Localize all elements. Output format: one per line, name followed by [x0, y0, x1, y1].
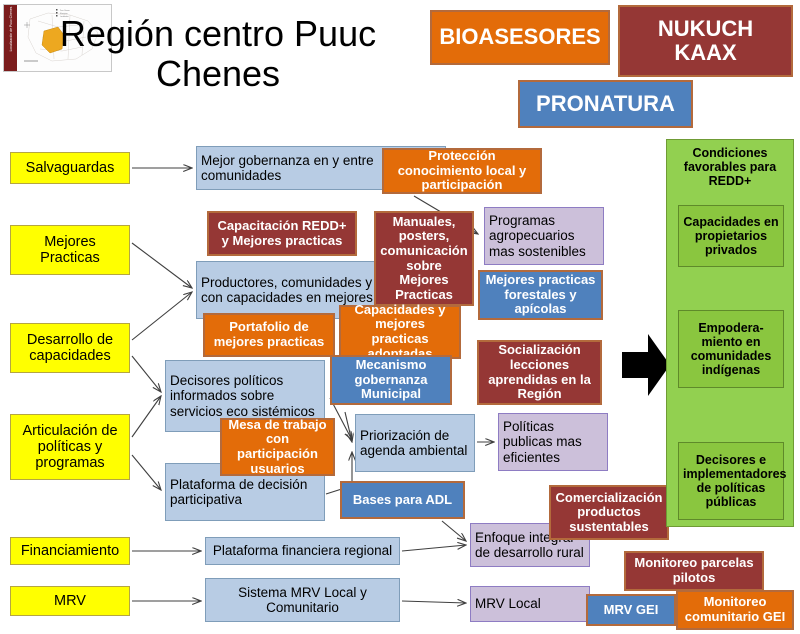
activity-box-label: Capacitación REDD+ y Mejores practicas	[213, 219, 351, 248]
activity-box-label: Mecanismo gobernanza Municipal	[336, 358, 446, 402]
activity-box-label: Mejores practicas forestales y apícolas	[484, 273, 597, 317]
outcome-box-label: Decisores políticos informados sobre ser…	[170, 373, 320, 418]
activity-box-label: Manuales, posters, comunicación sobre Me…	[380, 215, 468, 302]
driver-box-label: Financiamiento	[15, 543, 125, 559]
impact-item-2[interactable]: Decisores e implementadores de políticas…	[678, 442, 784, 520]
outcome-box-label: MRV Local	[475, 596, 585, 611]
driver-box-mejores[interactable]: Mejores Practicas	[10, 225, 130, 275]
activity-box-socializacion-lecciones[interactable]: Socialización lecciones aprendidas en la…	[477, 340, 602, 405]
driver-box-articulacin[interactable]: Articulación de políticas y programas	[10, 414, 130, 480]
activity-box-mrv-gei[interactable]: MRV GEI	[586, 594, 676, 626]
outcome-box-label: Priorización de agenda ambiental	[360, 428, 470, 458]
impact-item-1[interactable]: Empodera-miento en comunidades indígenas	[678, 310, 784, 388]
driver-box-label: Salvaguardas	[15, 160, 125, 176]
diagram-canvas: Localización de Puuc Chenes Puuc ChenesM…	[0, 0, 800, 634]
activity-box-monitoreo-parcelas[interactable]: Monitoreo parcelas pilotos	[624, 551, 764, 591]
activity-box-label: Comercialización productos sustentables	[555, 491, 663, 535]
outcome-box-programas-agropecuarios[interactable]: Programas agropecuarios mas sostenibles	[484, 207, 604, 265]
activity-box-label: Mesa de trabajo con participación usuari…	[226, 418, 329, 476]
page-title-line2: Chenes	[8, 54, 428, 94]
impact-item-0[interactable]: Capacidades en propietarios privados	[678, 205, 784, 267]
activity-box-label: Portafolio de mejores practicas	[209, 320, 329, 349]
outcome-box-label: Plataforma financiera regional	[210, 543, 395, 558]
activity-box-mecanismo-gobernanza[interactable]: Mecanismo gobernanza Municipal	[330, 355, 452, 405]
driver-box-salvaguardas[interactable]: Salvaguardas	[10, 152, 130, 184]
activity-box-mesa-trabajo[interactable]: Mesa de trabajo con participación usuari…	[220, 418, 335, 476]
activity-box-portafolio-mejores[interactable]: Portafolio de mejores practicas	[203, 313, 335, 357]
outcome-box-priorizacion-agenda[interactable]: Priorización de agenda ambiental	[355, 414, 475, 472]
partner-box-nukuch-kaax: NUKUCH KAAX	[618, 5, 793, 77]
partner-box-label: BIOASESORES	[439, 25, 600, 49]
page-title: Región centro Puuc Chenes	[8, 14, 428, 95]
svg-text:Puuc Chenes: Puuc Chenes	[60, 10, 70, 12]
impact-item-label: Decisores e implementadores de políticas…	[683, 453, 779, 509]
activity-box-label: Socialización lecciones aprendidas en la…	[483, 343, 596, 401]
driver-box-label: Articulación de políticas y programas	[15, 423, 125, 472]
outcome-box-sistema-mrv[interactable]: Sistema MRV Local y Comunitario	[205, 578, 400, 622]
activity-box-label: Monitoreo parcelas pilotos	[630, 556, 758, 585]
activity-box-capacitacion-redd[interactable]: Capacitación REDD+ y Mejores practicas	[207, 211, 357, 256]
activity-box-label: Capacidades y mejores practicas adoptada…	[345, 303, 455, 361]
outcome-box-label: Políticas publicas mas eficientes	[503, 419, 603, 464]
activity-box-manuales-posters[interactable]: Manuales, posters, comunicación sobre Me…	[374, 211, 474, 306]
driver-box-label: Desarrollo de capacidades	[15, 332, 125, 364]
partner-box-pronatura: PRONATURA	[518, 80, 693, 128]
partner-box-label: PRONATURA	[536, 92, 675, 116]
driver-box-financiamiento[interactable]: Financiamiento	[10, 537, 130, 565]
activity-box-label: Protección conocimiento local y particip…	[388, 149, 536, 193]
activity-box-comercializacion[interactable]: Comercialización productos sustentables	[549, 485, 669, 540]
outcome-box-label: Programas agropecuarios mas sostenibles	[489, 213, 599, 258]
activity-box-monitoreo-comunitario[interactable]: Monitoreo comunitario GEI	[676, 590, 794, 630]
driver-box-label: MRV	[15, 593, 125, 609]
outcome-box-politicas-publicas[interactable]: Políticas publicas mas eficientes	[498, 413, 608, 471]
results-arrow	[622, 334, 670, 396]
driver-box-mrv[interactable]: MRV	[10, 586, 130, 616]
outcome-box-label: Plataforma de decisión participativa	[170, 477, 320, 507]
partner-box-label: NUKUCH KAAX	[626, 17, 785, 65]
activity-box-label: Bases para ADL	[346, 493, 459, 508]
driver-box-desarrollo[interactable]: Desarrollo de capacidades	[10, 323, 130, 373]
outcome-box-mrv-local[interactable]: MRV Local	[470, 586, 590, 622]
partner-box-bioasesores: BIOASESORES	[430, 10, 610, 65]
page-title-line1: Región centro Puuc	[8, 14, 428, 54]
impact-item-label: Capacidades en propietarios privados	[683, 215, 779, 257]
activity-box-label: Monitoreo comunitario GEI	[682, 595, 788, 624]
impact-panel-heading: Condiciones favorables para REDD+	[671, 146, 789, 188]
activity-box-label: MRV GEI	[592, 603, 670, 618]
activity-box-mejores-forestales[interactable]: Mejores practicas forestales y apícolas	[478, 270, 603, 320]
driver-box-label: Mejores Practicas	[15, 234, 125, 266]
outcome-box-plataforma-financiera[interactable]: Plataforma financiera regional	[205, 537, 400, 565]
outcome-box-label: Sistema MRV Local y Comunitario	[210, 585, 395, 615]
impact-item-label: Empodera-miento en comunidades indígenas	[683, 321, 779, 377]
activity-box-bases-adl[interactable]: Bases para ADL	[340, 481, 465, 519]
activity-box-proteccion-conocimiento[interactable]: Protección conocimiento local y particip…	[382, 148, 542, 194]
activity-box-capacidades-adoptadas[interactable]: Capacidades y mejores practicas adoptada…	[339, 305, 461, 359]
